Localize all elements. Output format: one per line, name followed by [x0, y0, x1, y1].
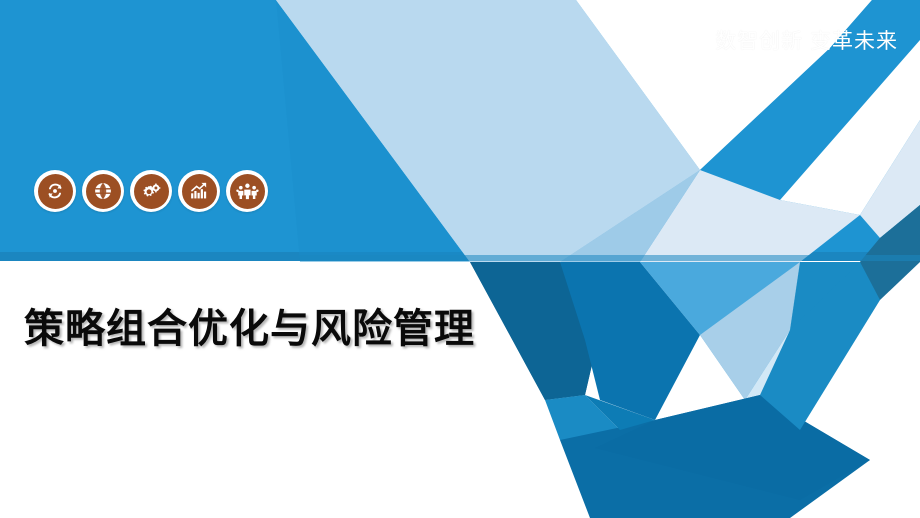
- gears-icon: [134, 174, 169, 209]
- globe-icon: [86, 174, 121, 209]
- icon-badge-globe[interactable]: [82, 170, 124, 212]
- icon-badge-gears[interactable]: [130, 170, 172, 212]
- icon-badge-recycle[interactable]: [34, 170, 76, 212]
- icon-badge-chart[interactable]: [178, 170, 220, 212]
- header-tagline: 数智创新 变革未来: [715, 25, 898, 55]
- presentation-slide: 数智创新 变革未来: [0, 0, 920, 518]
- people-group-icon: [230, 174, 265, 209]
- bar-chart-icon: [182, 174, 217, 209]
- icon-badge-people[interactable]: [226, 170, 268, 212]
- background-polygon-artwork: [0, 0, 920, 518]
- icon-strip: [34, 170, 268, 212]
- recycle-arrow-icon: [38, 174, 73, 209]
- page-title: 策略组合优化与风险管理: [24, 296, 475, 354]
